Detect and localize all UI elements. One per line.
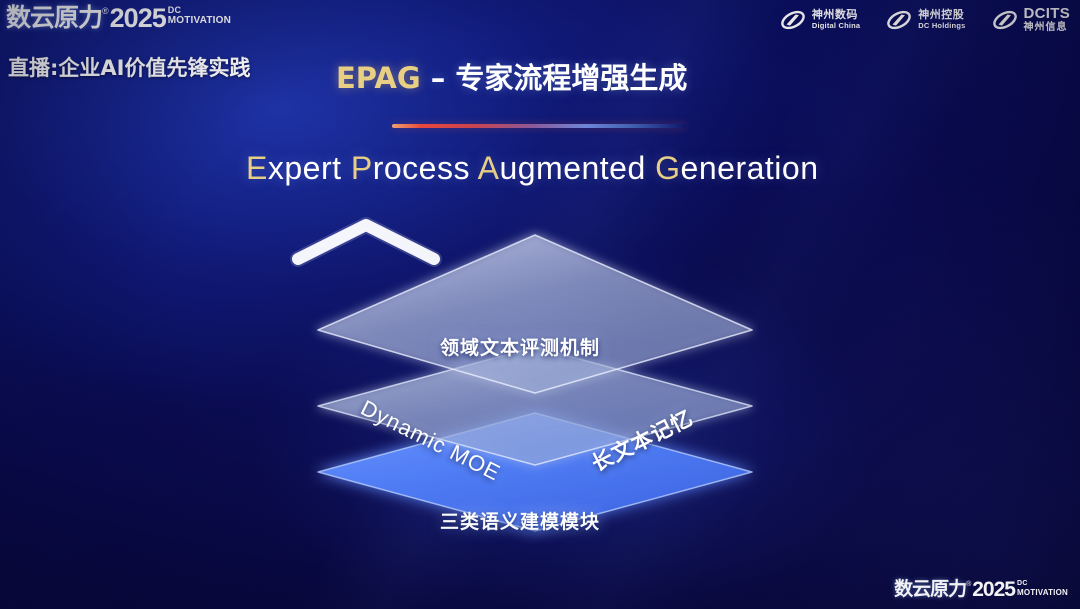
subtitle-rest-generation: eneration — [681, 150, 819, 186]
watermark-year: 2025 — [972, 578, 1015, 601]
diagram-layer-top[interactable]: 领域文本评测机制 — [290, 215, 790, 595]
brand-logo-top-left: 数云原力 ® 2025 DC MOTIVATION — [6, 3, 231, 33]
brand-logo-chinese: 数云原力 — [6, 3, 102, 33]
slide-canvas: 数云原力 ® 2025 DC MOTIVATION 直播:企业AI价值先锋实践 … — [0, 0, 1080, 609]
subtitle-cap-p: P — [351, 150, 373, 186]
partner-name-cn: 神州控股 — [918, 9, 965, 20]
brand-logo-dc: DC — [168, 5, 231, 15]
partner-logo-digital-china: 神州数码 Digital China — [780, 9, 860, 31]
partner-name-en: DCITS — [1024, 6, 1071, 21]
brand-logo-registered-mark: ® — [102, 5, 109, 17]
subtitle-rest-process: rocess — [373, 150, 470, 186]
brand-logo-motivation: MOTIVATION — [168, 15, 231, 26]
watermark-chinese: 数云原力 — [894, 578, 966, 601]
page-subtitle: Expert Process Augmented Generation — [246, 150, 818, 187]
page-title: EPAG – 专家流程增强生成 — [336, 55, 687, 97]
subtitle-rest-expert: xpert — [268, 150, 342, 186]
partner-name-en: DC Holdings — [918, 22, 965, 30]
watermark-dc: DC — [1017, 580, 1068, 588]
layered-architecture-diagram: 三类语义建模模块 — [290, 215, 790, 595]
partner-logo-dcits: DCITS 神州信息 — [992, 6, 1071, 33]
partner-name-en: Digital China — [812, 22, 860, 30]
partner-logo-dc-holdings: 神州控股 DC Holdings — [886, 9, 965, 31]
watermark-registered-mark: ® — [966, 580, 971, 589]
partner-name-cn: 神州数码 — [812, 9, 860, 20]
brand-logo-year: 2025 — [110, 3, 166, 33]
partner-name-cn: 神州信息 — [1024, 23, 1071, 33]
subtitle-cap-g: G — [655, 150, 680, 186]
page-title-accent: EPAG — [336, 61, 421, 95]
partner-logo-text: DCITS 神州信息 — [1024, 6, 1071, 33]
subtitle-cap-a: A — [478, 150, 500, 186]
swoosh-icon — [780, 9, 806, 31]
live-banner-text: 直播:企业AI价值先锋实践 — [8, 52, 250, 82]
page-title-rest: – 专家流程增强生成 — [421, 61, 688, 95]
swoosh-icon — [886, 9, 912, 31]
partner-logo-text: 神州数码 Digital China — [812, 9, 860, 30]
watermark-motivation: MOTIVATION — [1017, 588, 1068, 597]
subtitle-rest-augmented: ugmented — [499, 150, 645, 186]
partner-logo-bar: 神州数码 Digital China 神州控股 DC Holdings — [780, 6, 1070, 33]
partner-logo-text: 神州控股 DC Holdings — [918, 9, 965, 30]
subtitle-cap-e: E — [246, 150, 268, 186]
title-divider — [392, 124, 686, 128]
chevron-up-icon — [290, 215, 442, 267]
brand-logo-tagline: DC MOTIVATION — [168, 5, 231, 26]
watermark-tagline: DC MOTIVATION — [1017, 580, 1068, 597]
brand-watermark-bottom-right: 数云原力 ® 2025 DC MOTIVATION — [894, 578, 1068, 601]
swoosh-icon — [992, 9, 1018, 31]
